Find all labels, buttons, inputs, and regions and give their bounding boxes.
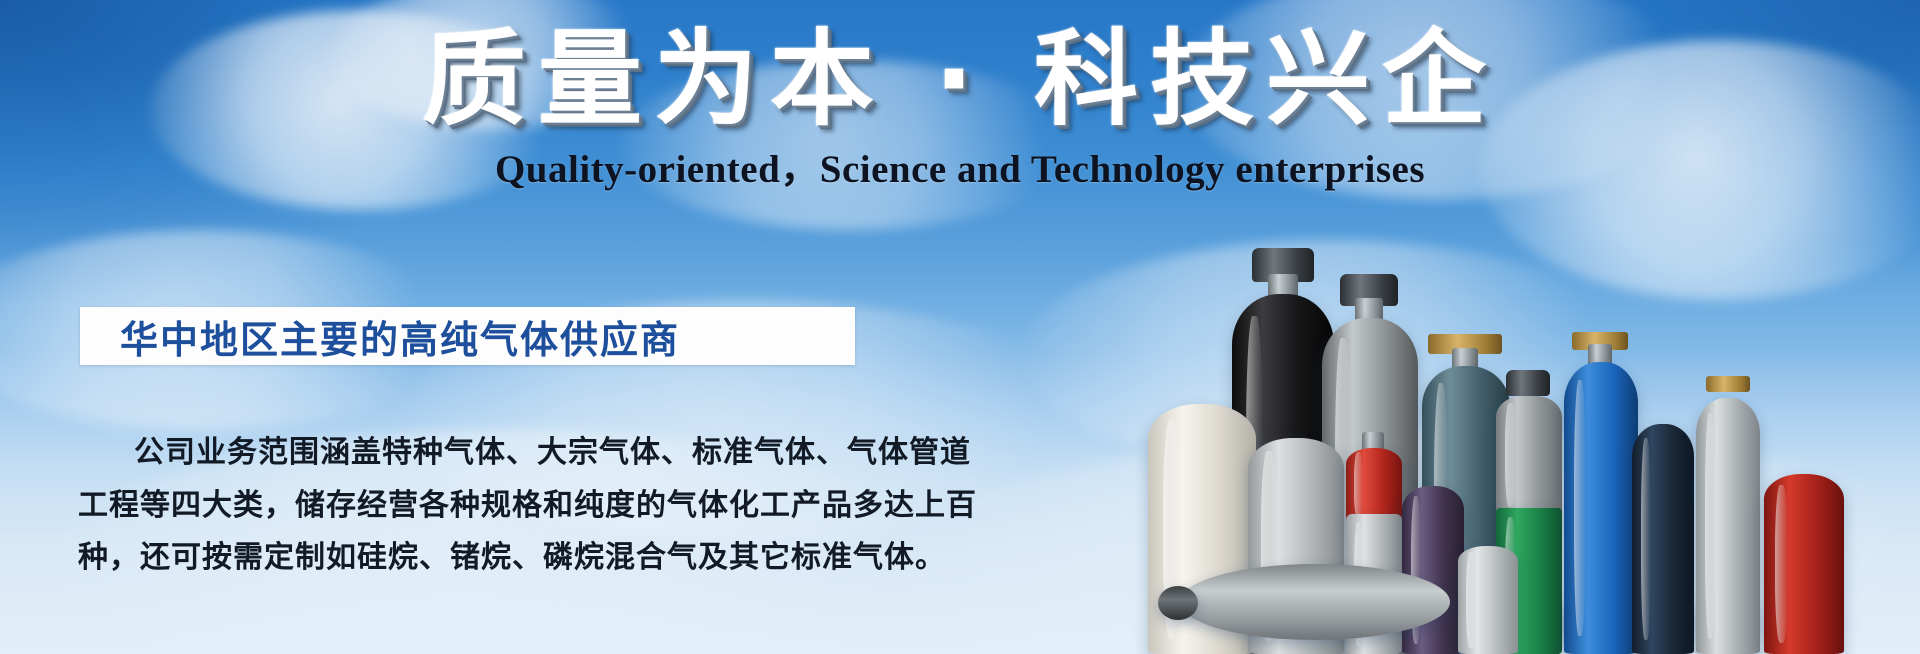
body-line: 种，还可按需定制如硅烷、锗烷、磷烷混合气及其它标准气体。 — [78, 537, 878, 580]
body-line: 工程等四大类，储存经营各种规格和纯度的气体化工产品多达上百 — [78, 485, 878, 528]
body-paragraph: 公司业务范围涵盖特种气体、大宗气体、标准气体、气体管道 工程等四大类，储存经营各… — [78, 432, 878, 590]
promotional-banner: 质量为本 · 科技兴企 Quality-oriented，Science and… — [0, 0, 1920, 654]
callout-box: 华中地区主要的高纯气体供应商 — [80, 307, 855, 365]
callout-text: 华中地区主要的高纯气体供应商 — [80, 309, 680, 364]
green-base-cylinder-cap — [1506, 370, 1550, 396]
aluminium-cylinder — [1696, 398, 1760, 654]
lying-cylinder — [1180, 564, 1450, 640]
green-base-cylinder-upper — [1496, 396, 1562, 514]
deep-red-cylinder — [1764, 474, 1844, 654]
gas-cylinder-group — [1140, 94, 1920, 654]
blue-cylinder — [1564, 362, 1638, 654]
dark-navy-cylinder — [1632, 424, 1694, 654]
purple-cylinder — [1402, 486, 1464, 654]
body-line: 公司业务范围涵盖特种气体、大宗气体、标准气体、气体管道 — [78, 432, 878, 475]
silver-small-cylinder — [1458, 546, 1518, 654]
aluminium-cylinder-valve — [1706, 376, 1750, 392]
red-top-cylinder-head — [1346, 448, 1402, 522]
lying-cylinder-valve — [1158, 586, 1198, 620]
